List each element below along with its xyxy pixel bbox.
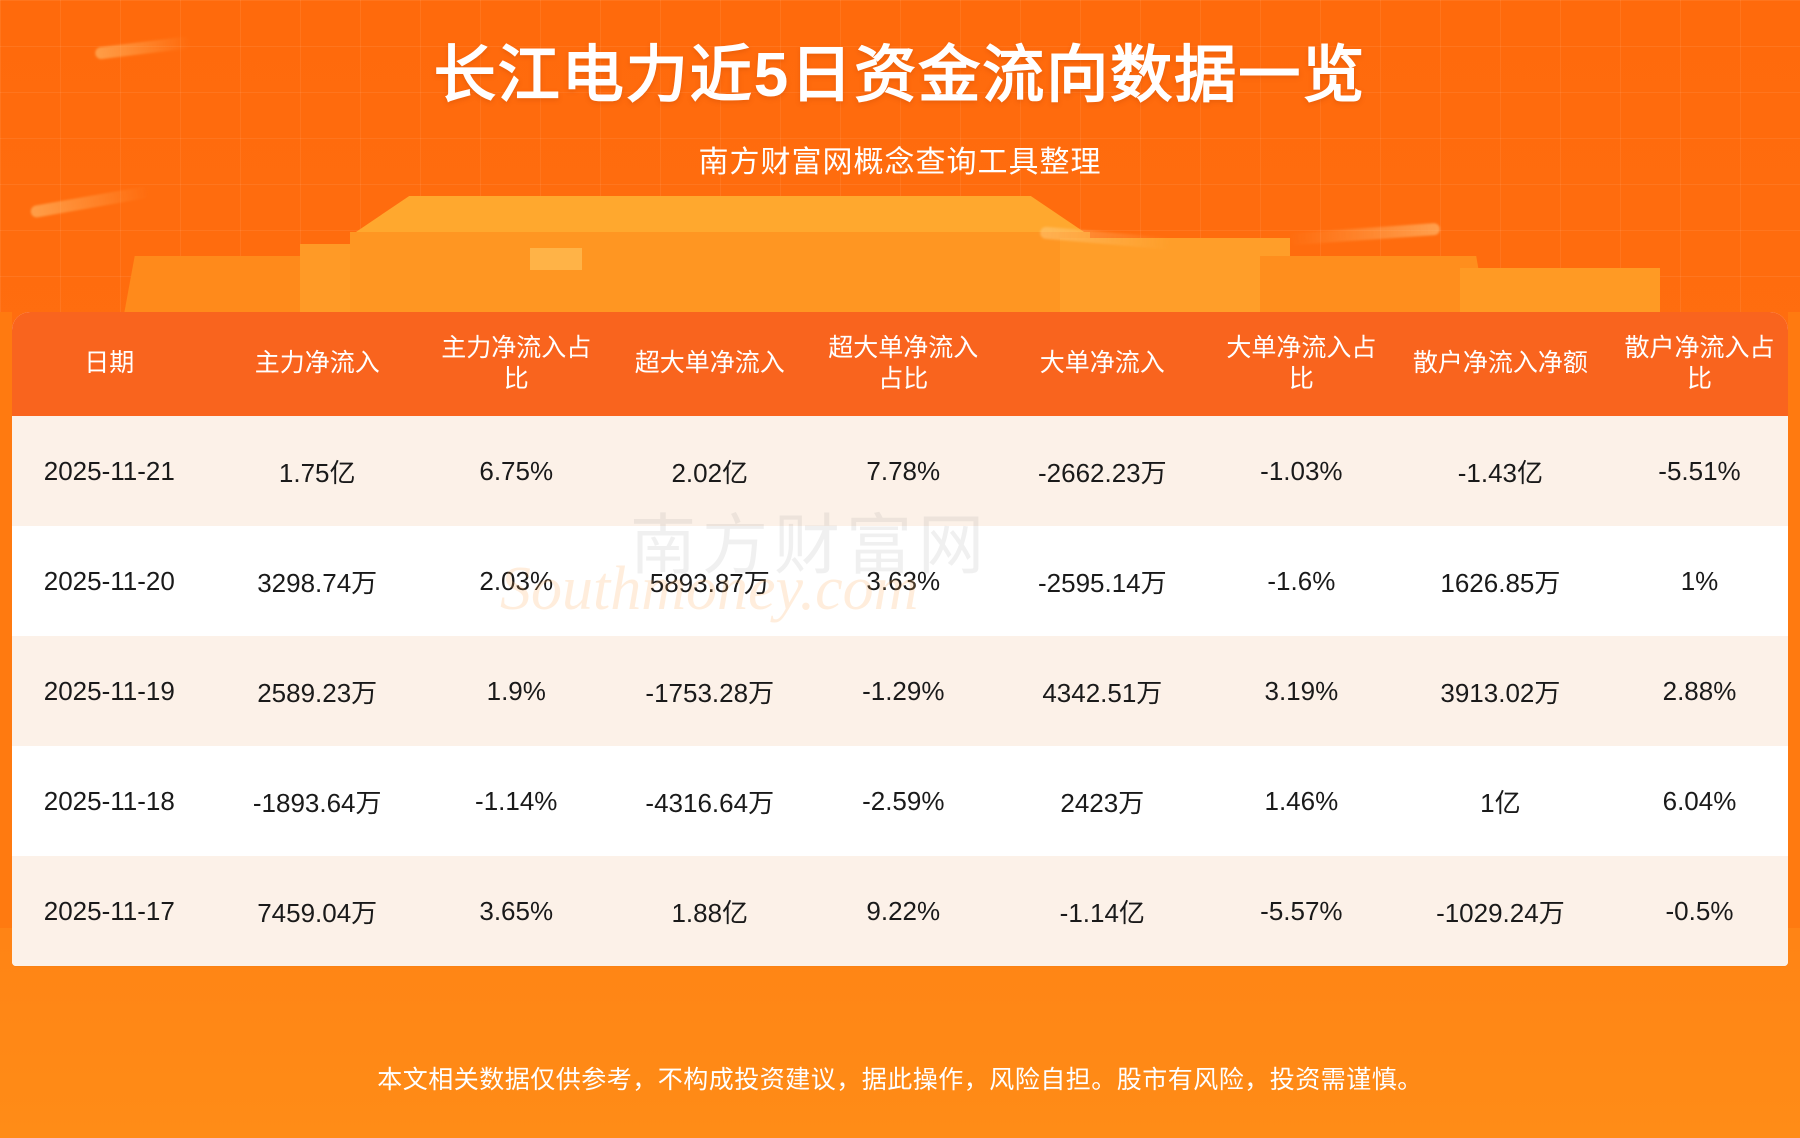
cell-retail-pct: 2.88%: [1611, 636, 1788, 746]
fund-flow-table: 日期 主力净流入 主力净流入占比 超大单净流入 超大单净流入占比 大单净流入 大…: [12, 312, 1788, 966]
cell-retail-pct: 6.04%: [1611, 746, 1788, 856]
cell-xl-pct: -1.29%: [815, 636, 992, 746]
cell-main-net: -1893.64万: [207, 746, 428, 856]
cell-retail-net: 3913.02万: [1390, 636, 1611, 746]
infographic-page: 长江电力近5日资金流向数据一览 南方财富网概念查询工具整理 日期 主力净流入 主…: [0, 0, 1800, 1138]
cell-retail-pct: -0.5%: [1611, 856, 1788, 966]
cell-date: 2025-11-17: [12, 856, 207, 966]
light-streak-decoration: [30, 186, 150, 219]
table-body: 2025-11-21 1.75亿 6.75% 2.02亿 7.78% -2662…: [12, 416, 1788, 966]
column-header-large-net-inflow-ratio[interactable]: 大单净流入占比: [1213, 312, 1390, 416]
table-row: 2025-11-17 7459.04万 3.65% 1.88亿 9.22% -1…: [12, 856, 1788, 966]
cell-lg-pct: -5.57%: [1213, 856, 1390, 966]
cell-lg-pct: -1.03%: [1213, 416, 1390, 526]
cell-main-net: 7459.04万: [207, 856, 428, 966]
cell-xl-pct: 7.78%: [815, 416, 992, 526]
page-subtitle: 南方财富网概念查询工具整理: [0, 111, 1800, 181]
cell-main-pct: 1.9%: [428, 636, 605, 746]
light-streak-decoration: [1040, 226, 1171, 249]
cell-lg-net: 2423万: [992, 746, 1213, 856]
podium-slab-top: [350, 196, 1090, 236]
cell-xl-pct: 3.63%: [815, 526, 992, 636]
cell-date: 2025-11-19: [12, 636, 207, 746]
cell-main-pct: 2.03%: [428, 526, 605, 636]
card-edge-right: [1788, 312, 1800, 928]
column-header-main-net-inflow-ratio[interactable]: 主力净流入占比: [428, 312, 605, 416]
cell-retail-net: -1.43亿: [1390, 416, 1611, 526]
cell-lg-pct: 3.19%: [1213, 636, 1390, 746]
cell-lg-pct: 1.46%: [1213, 746, 1390, 856]
fund-flow-table-card: 日期 主力净流入 主力净流入占比 超大单净流入 超大单净流入占比 大单净流入 大…: [12, 312, 1788, 966]
cell-lg-net: -1.14亿: [992, 856, 1213, 966]
banner-header: 长江电力近5日资金流向数据一览 南方财富网概念查询工具整理: [0, 0, 1800, 181]
cell-date: 2025-11-21: [12, 416, 207, 526]
cell-xl-pct: -2.59%: [815, 746, 992, 856]
table-row: 2025-11-18 -1893.64万 -1.14% -4316.64万 -2…: [12, 746, 1788, 856]
table-row: 2025-11-19 2589.23万 1.9% -1753.28万 -1.29…: [12, 636, 1788, 746]
cell-main-net: 3298.74万: [207, 526, 428, 636]
column-header-date[interactable]: 日期: [12, 312, 207, 416]
table-header-row: 日期 主力净流入 主力净流入占比 超大单净流入 超大单净流入占比 大单净流入 大…: [12, 312, 1788, 416]
footer-disclaimer: 本文相关数据仅供参考，不构成投资建议，据此操作，风险自担。股市有风险，投资需谨慎…: [0, 1060, 1800, 1096]
cell-xl-net: 1.88亿: [605, 856, 815, 966]
column-header-main-net-inflow[interactable]: 主力净流入: [207, 312, 428, 416]
cell-lg-net: -2595.14万: [992, 526, 1213, 636]
cell-main-net: 2589.23万: [207, 636, 428, 746]
column-header-retail-net-inflow-ratio[interactable]: 散户净流入占比: [1611, 312, 1788, 416]
cell-main-net: 1.75亿: [207, 416, 428, 526]
cell-retail-pct: 1%: [1611, 526, 1788, 636]
column-header-large-net-inflow[interactable]: 大单净流入: [992, 312, 1213, 416]
cell-date: 2025-11-18: [12, 746, 207, 856]
cell-retail-net: 1626.85万: [1390, 526, 1611, 636]
cell-lg-pct: -1.6%: [1213, 526, 1390, 636]
card-edge-left: [0, 312, 12, 928]
table-header: 日期 主力净流入 主力净流入占比 超大单净流入 超大单净流入占比 大单净流入 大…: [12, 312, 1788, 416]
light-streak-decoration: [1290, 223, 1440, 245]
cell-main-pct: 6.75%: [428, 416, 605, 526]
cell-lg-net: 4342.51万: [992, 636, 1213, 746]
cell-main-pct: 3.65%: [428, 856, 605, 966]
cell-xl-net: 2.02亿: [605, 416, 815, 526]
page-title: 长江电力近5日资金流向数据一览: [0, 0, 1800, 111]
cell-xl-pct: 9.22%: [815, 856, 992, 966]
column-header-retail-net-inflow-amount[interactable]: 散户净流入净额: [1390, 312, 1611, 416]
column-header-extra-large-net-inflow-ratio[interactable]: 超大单净流入占比: [815, 312, 992, 416]
cell-retail-net: 1亿: [1390, 746, 1611, 856]
column-header-extra-large-net-inflow[interactable]: 超大单净流入: [605, 312, 815, 416]
cell-xl-net: 5893.87万: [605, 526, 815, 636]
table-row: 2025-11-21 1.75亿 6.75% 2.02亿 7.78% -2662…: [12, 416, 1788, 526]
cell-lg-net: -2662.23万: [992, 416, 1213, 526]
podium-slab-notch: [530, 248, 582, 270]
cell-retail-pct: -5.51%: [1611, 416, 1788, 526]
table-row: 2025-11-20 3298.74万 2.03% 5893.87万 3.63%…: [12, 526, 1788, 636]
cell-main-pct: -1.14%: [428, 746, 605, 856]
cell-date: 2025-11-20: [12, 526, 207, 636]
cell-retail-net: -1029.24万: [1390, 856, 1611, 966]
cell-xl-net: -4316.64万: [605, 746, 815, 856]
cell-xl-net: -1753.28万: [605, 636, 815, 746]
